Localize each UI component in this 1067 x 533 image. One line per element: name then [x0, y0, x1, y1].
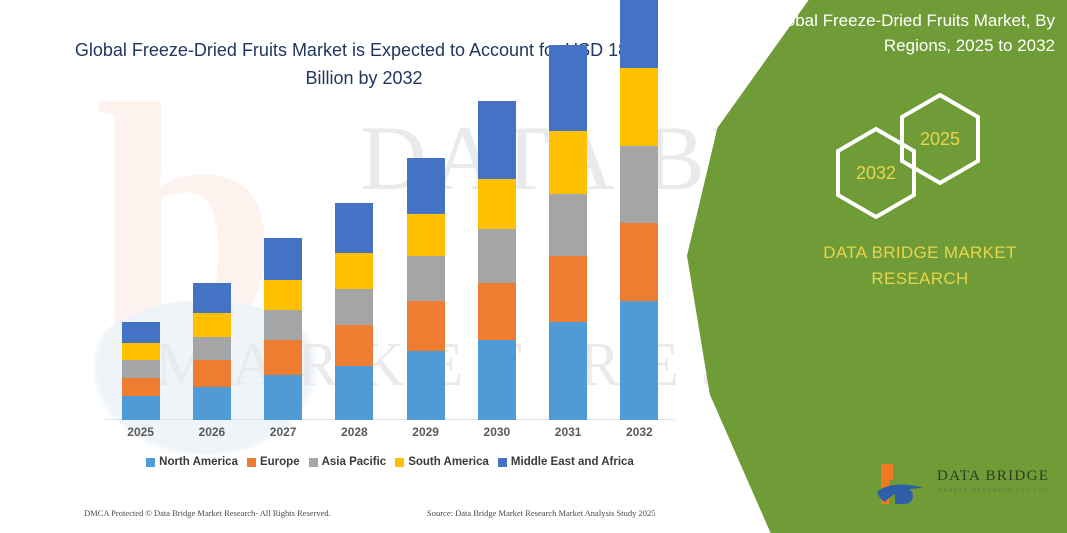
- x-axis-label: 2032: [609, 425, 669, 439]
- bar-segment: [549, 131, 587, 194]
- legend-label: Asia Pacific: [322, 456, 387, 468]
- bar-segment: [407, 301, 445, 352]
- x-axis-label: 2028: [324, 425, 384, 439]
- bar-segment: [478, 283, 516, 340]
- legend-item[interactable]: North America: [146, 456, 238, 468]
- legend-swatch-icon: [247, 458, 256, 467]
- bar-segment: [122, 378, 160, 396]
- bar-segment: [122, 343, 160, 361]
- bar-segment: [620, 68, 658, 145]
- bar-segment: [335, 253, 373, 289]
- bar-segment: [620, 0, 658, 68]
- legend-item[interactable]: Europe: [247, 456, 300, 468]
- footer-source: Source: Data Bridge Market Research Mark…: [427, 508, 656, 518]
- legend-label: Middle East and Africa: [511, 456, 634, 468]
- bar-segment: [264, 310, 302, 340]
- bar-segment: [549, 194, 587, 257]
- bar-segment: [193, 337, 231, 361]
- hexagon-group: 2032 2025: [820, 92, 1000, 212]
- footer: DMCA Protected © Data Bridge Market Rese…: [0, 508, 700, 528]
- legend-label: North America: [159, 456, 238, 468]
- bar-segment: [264, 375, 302, 420]
- legend-swatch-icon: [309, 458, 318, 467]
- x-axis-label: 2031: [538, 425, 598, 439]
- legend-swatch-icon: [498, 458, 507, 467]
- x-axis-tick-labels: 20252026202720282029203020312032: [105, 425, 675, 445]
- bar-segment: [549, 45, 587, 131]
- x-axis-label: 2026: [182, 425, 242, 439]
- bar-column: [620, 0, 658, 420]
- legend-label: South America: [408, 456, 489, 468]
- bar-segment: [122, 322, 160, 343]
- bar-segment: [193, 360, 231, 387]
- bar-segment: [264, 238, 302, 280]
- hexagon-end-year-label: 2032: [856, 163, 896, 184]
- bar-segment: [335, 203, 373, 254]
- bar-segment: [478, 340, 516, 420]
- bar-segment: [478, 179, 516, 230]
- bar-column: [335, 203, 373, 421]
- bar-segment: [549, 256, 587, 322]
- bar-segment: [407, 256, 445, 301]
- bar-column: [193, 283, 231, 420]
- bar-segment: [122, 360, 160, 378]
- hexagon-start-year-label: 2025: [920, 129, 960, 150]
- bar-segment: [407, 214, 445, 256]
- footer-copyright: DMCA Protected © Data Bridge Market Rese…: [84, 508, 331, 518]
- bar-column: [407, 158, 445, 420]
- data-bridge-logo-icon: [875, 462, 931, 508]
- bar-segment: [620, 301, 658, 420]
- x-axis-label: 2030: [467, 425, 527, 439]
- bar-column: [478, 101, 516, 420]
- bar-segment: [478, 101, 516, 178]
- x-axis-label: 2025: [111, 425, 171, 439]
- x-axis-label: 2029: [396, 425, 456, 439]
- bar-segment: [193, 387, 231, 420]
- bar-column: [264, 238, 302, 420]
- bar-segment: [264, 280, 302, 310]
- x-axis-label: 2027: [253, 425, 313, 439]
- infographic-canvas: b DATA BRIDGE MARKET RESEARCH Global Fre…: [0, 0, 1067, 533]
- bar-column: [122, 322, 160, 420]
- legend-label: Europe: [260, 456, 300, 468]
- bar-segment: [335, 366, 373, 420]
- chart-plot-area: [105, 120, 675, 420]
- company-logo: DATA BRIDGE MARKET RESEARCH PVT LTD: [875, 462, 1055, 510]
- logo-wordmark: DATA BRIDGE: [937, 468, 1049, 485]
- legend-item[interactable]: South America: [395, 456, 489, 468]
- bar-segment: [549, 322, 587, 420]
- stacked-bar-chart: [105, 120, 675, 420]
- bar-segment: [264, 340, 302, 376]
- bar-segment: [478, 229, 516, 283]
- bar-segment: [335, 289, 373, 325]
- legend-item[interactable]: Middle East and Africa: [498, 456, 634, 468]
- bar-segment: [407, 351, 445, 420]
- legend-swatch-icon: [395, 458, 404, 467]
- bar-segment: [620, 146, 658, 223]
- bar-segment: [407, 158, 445, 215]
- chart-legend: North AmericaEuropeAsia PacificSouth Ame…: [105, 456, 675, 468]
- x-axis-line: [105, 419, 675, 420]
- hexagon-start-year: 2025: [898, 92, 982, 186]
- bar-column: [549, 45, 587, 420]
- panel-title: Global Freeze-Dried Fruits Market, By Re…: [735, 8, 1055, 58]
- brand-name: DATA BRIDGE MARKET RESEARCH: [790, 240, 1050, 292]
- bar-segment: [620, 223, 658, 300]
- bar-segment: [193, 283, 231, 313]
- bar-segment: [335, 325, 373, 367]
- bar-segment: [122, 396, 160, 420]
- bar-segment: [193, 313, 231, 337]
- legend-item[interactable]: Asia Pacific: [309, 456, 387, 468]
- legend-swatch-icon: [146, 458, 155, 467]
- logo-tagline: MARKET RESEARCH PVT LTD: [938, 488, 1049, 494]
